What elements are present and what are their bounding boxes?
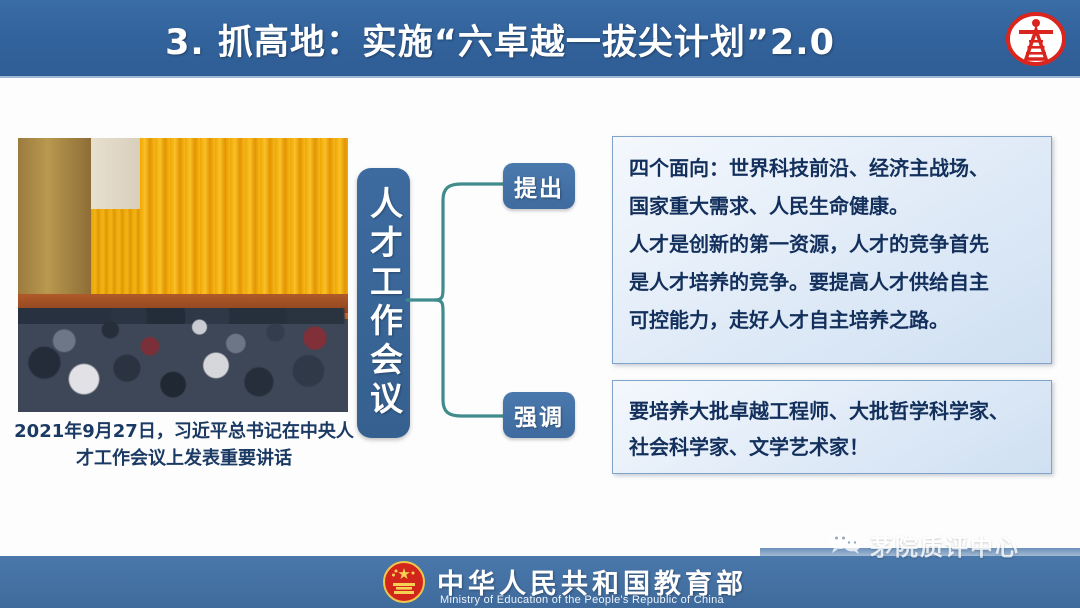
national-emblem-icon [383,561,425,603]
main-content-line-3: 人才是创新的第一资源，人才的竞争首先 [629,225,1035,263]
sub-content-box: 要培养大批卓越工程师、大批哲学科学家、 社会科学家、文学艺术家！ [612,380,1052,474]
sub-content-line-1: 要培养大批卓越工程师、大批哲学科学家、 [629,393,1035,429]
diagram-root-label: 人才工作会议 [360,186,408,420]
slide-root: 3. 抓高地：实施“六卓越一拔尖计划”2.0 [0,0,1080,608]
conference-photo [18,138,348,412]
branch-tag-emphasized[interactable]: 强调 [503,392,575,438]
wechat-watermark-label: 茅院质评中心 [870,528,1020,562]
main-content-line-5: 可控能力，走好人才自主培养之路。 [629,301,1035,339]
main-content-line-2: 国家重大需求、人民生命健康。 [629,187,1035,225]
slide-title-bar: 3. 抓高地：实施“六卓越一拔尖计划”2.0 [0,0,1080,78]
wechat-icon [828,529,862,561]
page-title: 3. 抓高地：实施“六卓越一拔尖计划”2.0 [0,0,1000,78]
university-emblem-icon [1004,7,1068,71]
main-content-line-4: 是人才培养的竞争。要提高人才供给自主 [629,263,1035,301]
diagram-root-node[interactable]: 人才工作会议 [357,168,410,438]
main-content-line-1: 四个面向：世界科技前沿、经济主战场、 [629,149,1035,187]
sub-content-line-2: 社会科学家、文学艺术家！ [629,429,1035,465]
photo-crowd-texture [18,138,348,412]
photo-caption: 2021年9月27日，习近平总书记在中央人才工作会议上发表重要讲话 [14,418,354,472]
branch-tag-proposed[interactable]: 提出 [503,163,575,209]
branch-tag-emphasized-label: 强调 [514,398,564,432]
main-content-box: 四个面向：世界科技前沿、经济主战场、 国家重大需求、人民生命健康。 人才是创新的… [612,136,1052,364]
slide-footer: 中华人民共和国教育部 Ministry of Education of the … [0,556,1080,608]
diagram-connector [405,160,515,440]
footer-org-name-en: Ministry of Education of the People's Re… [440,594,724,606]
photo-canvas [18,138,348,412]
branch-tag-proposed-label: 提出 [514,169,564,203]
wechat-watermark: 茅院质评中心 [828,528,1020,562]
